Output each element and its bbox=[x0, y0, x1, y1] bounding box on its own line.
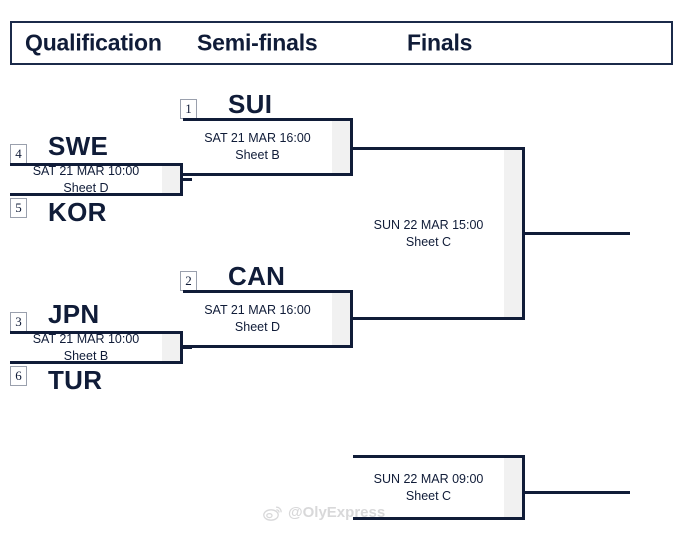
match-datetime: SAT 21 MAR 16:00 bbox=[204, 303, 311, 317]
match-box-qualification-1[interactable]: SAT 21 MAR 10:00 Sheet D bbox=[10, 163, 183, 196]
match-box-gold-final[interactable]: SUN 22 MAR 15:00 Sheet C bbox=[353, 147, 525, 320]
seed-chip-5: 5 bbox=[10, 198, 27, 218]
team-name-swe: SWE bbox=[48, 131, 108, 162]
stage-header-semifinals: Semi-finals bbox=[197, 30, 318, 57]
seed-chip-6: 6 bbox=[10, 366, 27, 386]
seed-chip-3: 3 bbox=[10, 312, 27, 332]
match-box-accent-band bbox=[504, 150, 522, 317]
weibo-icon bbox=[263, 504, 283, 521]
match-sheet: Sheet B bbox=[183, 147, 332, 164]
seed-chip-1: 1 bbox=[180, 99, 197, 119]
match-details-semifinal-2: SAT 21 MAR 16:00 Sheet D bbox=[183, 302, 332, 336]
match-datetime: SAT 21 MAR 10:00 bbox=[33, 332, 140, 346]
team-name-tur: TUR bbox=[48, 365, 102, 396]
match-sheet: Sheet B bbox=[10, 348, 162, 365]
connector-gold-final-winner bbox=[525, 232, 630, 235]
match-box-accent-band bbox=[162, 334, 180, 361]
stage-header-bar: Qualification Semi-finals Finals bbox=[10, 21, 673, 65]
team-name-can: CAN bbox=[228, 261, 285, 292]
match-datetime: SUN 22 MAR 15:00 bbox=[374, 218, 484, 232]
match-box-semifinal-1[interactable]: SAT 21 MAR 16:00 Sheet B bbox=[183, 118, 353, 176]
match-details-qualification-2: SAT 21 MAR 10:00 Sheet B bbox=[10, 331, 162, 365]
match-datetime: SAT 21 MAR 16:00 bbox=[204, 131, 311, 145]
connector-bronze-final-winner bbox=[525, 491, 630, 494]
team-name-sui: SUI bbox=[228, 89, 272, 120]
match-sheet: Sheet C bbox=[353, 488, 504, 505]
match-box-accent-band bbox=[332, 293, 350, 345]
match-details-bronze-final: SUN 22 MAR 09:00 Sheet C bbox=[353, 471, 504, 505]
stage-header-finals: Finals bbox=[407, 30, 472, 57]
stage-header-qualification: Qualification bbox=[25, 30, 162, 57]
match-details-semifinal-1: SAT 21 MAR 16:00 Sheet B bbox=[183, 130, 332, 164]
match-details-gold-final: SUN 22 MAR 15:00 Sheet C bbox=[353, 217, 504, 251]
match-datetime: SAT 21 MAR 10:00 bbox=[33, 164, 140, 178]
team-name-jpn: JPN bbox=[48, 299, 99, 330]
team-name-kor: KOR bbox=[48, 197, 107, 228]
match-box-accent-band bbox=[332, 121, 350, 173]
match-box-accent-band bbox=[162, 166, 180, 193]
match-box-qualification-2[interactable]: SAT 21 MAR 10:00 Sheet B bbox=[10, 331, 183, 364]
match-box-accent-band bbox=[504, 458, 522, 517]
match-details-qualification-1: SAT 21 MAR 10:00 Sheet D bbox=[10, 163, 162, 197]
connector-qualification1-to-semifinal1 bbox=[183, 178, 192, 181]
seed-chip-2: 2 bbox=[180, 271, 197, 291]
match-sheet: Sheet D bbox=[10, 180, 162, 197]
match-sheet: Sheet C bbox=[353, 234, 504, 251]
match-box-bronze-final[interactable]: SUN 22 MAR 09:00 Sheet C bbox=[353, 455, 525, 520]
match-box-semifinal-2[interactable]: SAT 21 MAR 16:00 Sheet D bbox=[183, 290, 353, 348]
match-datetime: SUN 22 MAR 09:00 bbox=[374, 472, 484, 486]
match-sheet: Sheet D bbox=[183, 319, 332, 336]
seed-chip-4: 4 bbox=[10, 144, 27, 164]
